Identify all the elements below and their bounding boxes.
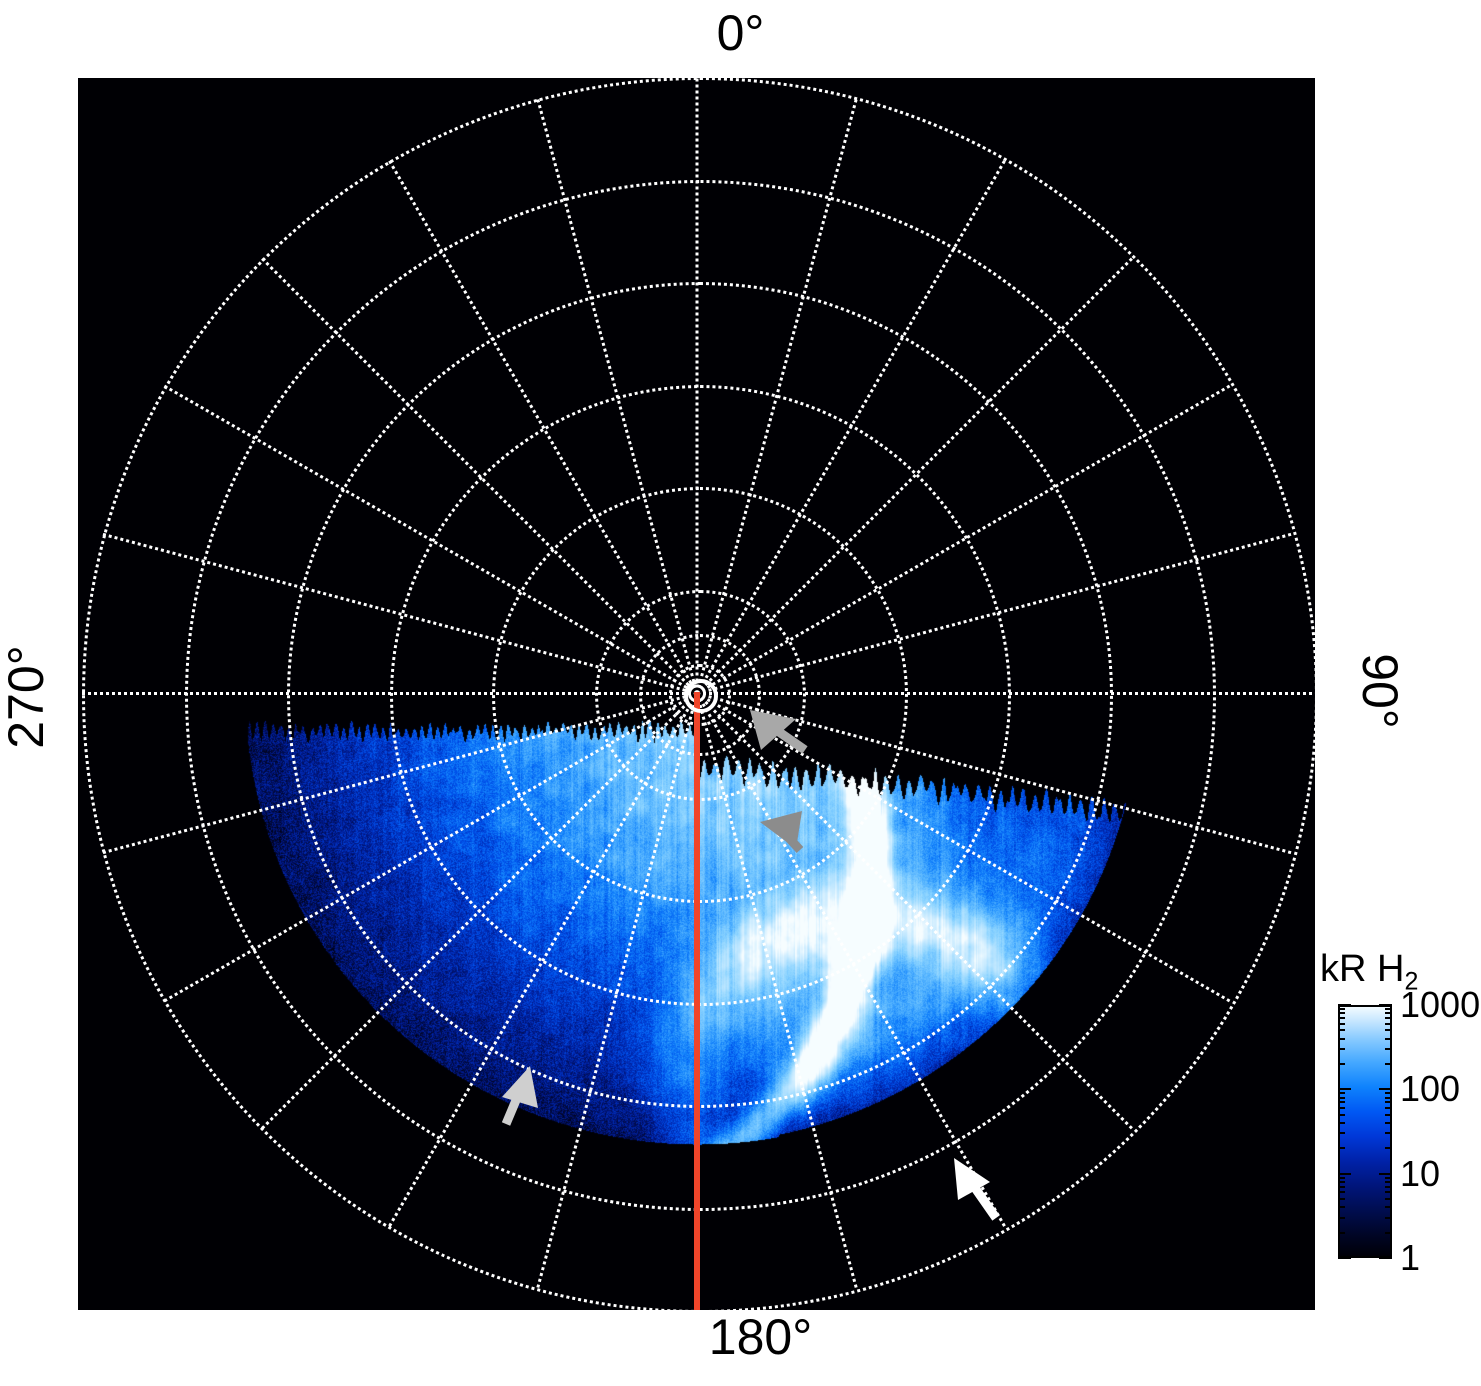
colorbar-minor-tick xyxy=(1338,1107,1345,1109)
colorbar-minor-tick xyxy=(1385,1048,1392,1050)
annotation-arrows xyxy=(78,78,1315,1310)
colorbar-tick-label: 100 xyxy=(1400,1068,1460,1110)
colorbar-minor-tick xyxy=(1385,1038,1392,1040)
colorbar-minor-tick xyxy=(1385,1177,1392,1179)
colorbar-minor-tick xyxy=(1338,1191,1345,1193)
colorbar-minor-tick xyxy=(1385,1017,1392,1019)
colorbar-minor-tick xyxy=(1385,1181,1392,1183)
colorbar-minor-tick xyxy=(1338,1186,1345,1188)
colorbar-minor-tick xyxy=(1338,1092,1345,1094)
colorbar-minor-tick xyxy=(1385,1191,1392,1193)
colorbar-minor-tick xyxy=(1385,1147,1392,1149)
colorbar-minor-tick xyxy=(1385,1122,1392,1124)
colorbar-major-tick xyxy=(1379,1004,1392,1006)
colorbar-major-tick xyxy=(1379,1257,1392,1259)
colorbar-minor-tick xyxy=(1385,1023,1392,1025)
colorbar-minor-tick xyxy=(1338,1132,1345,1134)
colorbar-tick-label: 1 xyxy=(1400,1237,1420,1279)
colorbar-major-tick xyxy=(1379,1173,1392,1175)
colorbar-tick-label: 10 xyxy=(1400,1153,1440,1195)
arrow-outer-emission xyxy=(502,1066,538,1124)
axis-label-0deg: 0° xyxy=(0,8,1481,58)
colorbar-minor-tick xyxy=(1385,1107,1392,1109)
arrow-polar-dawn xyxy=(750,710,805,750)
colorbar-minor-tick xyxy=(1338,1206,1345,1208)
colorbar: kR H2 1101001000 xyxy=(1320,948,1481,1328)
colorbar-minor-tick xyxy=(1338,1181,1345,1183)
axis-label-270deg: 270° xyxy=(1,617,51,777)
arrow-equatorward-boundary xyxy=(954,1158,996,1218)
colorbar-major-tick xyxy=(1379,1088,1392,1090)
colorbar-minor-tick xyxy=(1338,1177,1345,1179)
colorbar-minor-tick xyxy=(1385,1206,1392,1208)
axis-label-90deg: 90° xyxy=(1355,611,1405,771)
colorbar-minor-tick xyxy=(1338,1063,1345,1065)
colorbar-major-tick xyxy=(1338,1088,1351,1090)
colorbar-gradient xyxy=(1338,1005,1392,1258)
colorbar-minor-tick xyxy=(1338,1101,1345,1103)
colorbar-minor-tick xyxy=(1338,1038,1345,1040)
colorbar-minor-tick xyxy=(1338,1012,1345,1014)
colorbar-minor-tick xyxy=(1385,1198,1392,1200)
polar-plot-frame xyxy=(78,78,1315,1310)
colorbar-minor-tick xyxy=(1338,1048,1345,1050)
colorbar-minor-tick xyxy=(1385,1063,1392,1065)
colorbar-major-tick xyxy=(1338,1004,1351,1006)
colorbar-minor-tick xyxy=(1385,1097,1392,1099)
colorbar-minor-tick xyxy=(1385,1101,1392,1103)
colorbar-minor-tick xyxy=(1338,1198,1345,1200)
colorbar-major-tick xyxy=(1338,1173,1351,1175)
colorbar-minor-tick xyxy=(1338,1217,1345,1219)
colorbar-minor-tick xyxy=(1338,1008,1345,1010)
colorbar-minor-tick xyxy=(1338,1147,1345,1149)
colorbar-minor-tick xyxy=(1338,1029,1345,1031)
arrow-polar-dusk xyxy=(760,811,802,850)
colorbar-minor-tick xyxy=(1338,1122,1345,1124)
colorbar-tick-label: 1000 xyxy=(1400,984,1480,1026)
colorbar-minor-tick xyxy=(1385,1012,1392,1014)
colorbar-minor-tick xyxy=(1385,1029,1392,1031)
colorbar-minor-tick xyxy=(1385,1217,1392,1219)
colorbar-title-text: kR H xyxy=(1320,948,1404,990)
colorbar-minor-tick xyxy=(1338,1097,1345,1099)
colorbar-minor-tick xyxy=(1385,1132,1392,1134)
colorbar-minor-tick xyxy=(1338,1017,1345,1019)
colorbar-major-tick xyxy=(1338,1257,1351,1259)
colorbar-minor-tick xyxy=(1385,1092,1392,1094)
figure-root: 0° 180° 270° 90° kR H2 1101001000 xyxy=(0,0,1481,1386)
colorbar-minor-tick xyxy=(1385,1114,1392,1116)
colorbar-minor-tick xyxy=(1338,1023,1345,1025)
colorbar-minor-tick xyxy=(1338,1114,1345,1116)
axis-label-180deg: 180° xyxy=(0,1312,1481,1362)
colorbar-minor-tick xyxy=(1338,1232,1345,1234)
colorbar-minor-tick xyxy=(1385,1008,1392,1010)
colorbar-minor-tick xyxy=(1385,1232,1392,1234)
colorbar-minor-tick xyxy=(1385,1186,1392,1188)
